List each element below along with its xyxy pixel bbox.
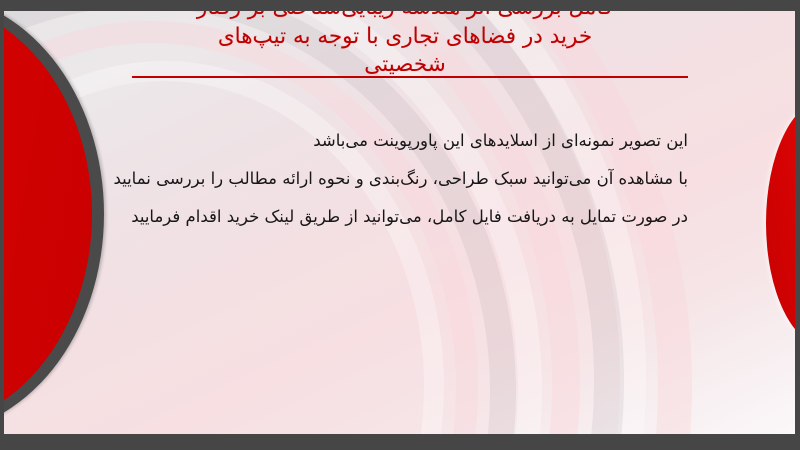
slide-frame-bottom	[0, 434, 800, 450]
body-line-1: این تصویر نمونه‌ای از اسلایدهای این پاور…	[48, 122, 688, 160]
body-line-2: با مشاهده آن می‌توانید سبک طراحی، رنگ‌بن…	[48, 160, 688, 198]
slide-frame-left	[0, 0, 4, 450]
presentation-slide: کامل بررسی اثر هندسه زیبایی‌شناختی بر رف…	[0, 0, 800, 450]
slide-content: کامل بررسی اثر هندسه زیبایی‌شناختی بر رف…	[0, 0, 800, 450]
title-divider-rule	[132, 76, 688, 78]
slide-title: کامل بررسی اثر هندسه زیبایی‌شناختی بر رف…	[95, 0, 715, 80]
slide-frame-top	[0, 0, 800, 11]
title-line-2: خرید در فضاهای تجاری با توجه به تیپ‌های	[95, 23, 715, 52]
body-line-3: در صورت تمایل به دریافت فایل کامل، می‌تو…	[48, 198, 688, 236]
slide-frame-right	[795, 0, 800, 450]
slide-body-text: این تصویر نمونه‌ای از اسلایدهای این پاور…	[48, 122, 688, 236]
